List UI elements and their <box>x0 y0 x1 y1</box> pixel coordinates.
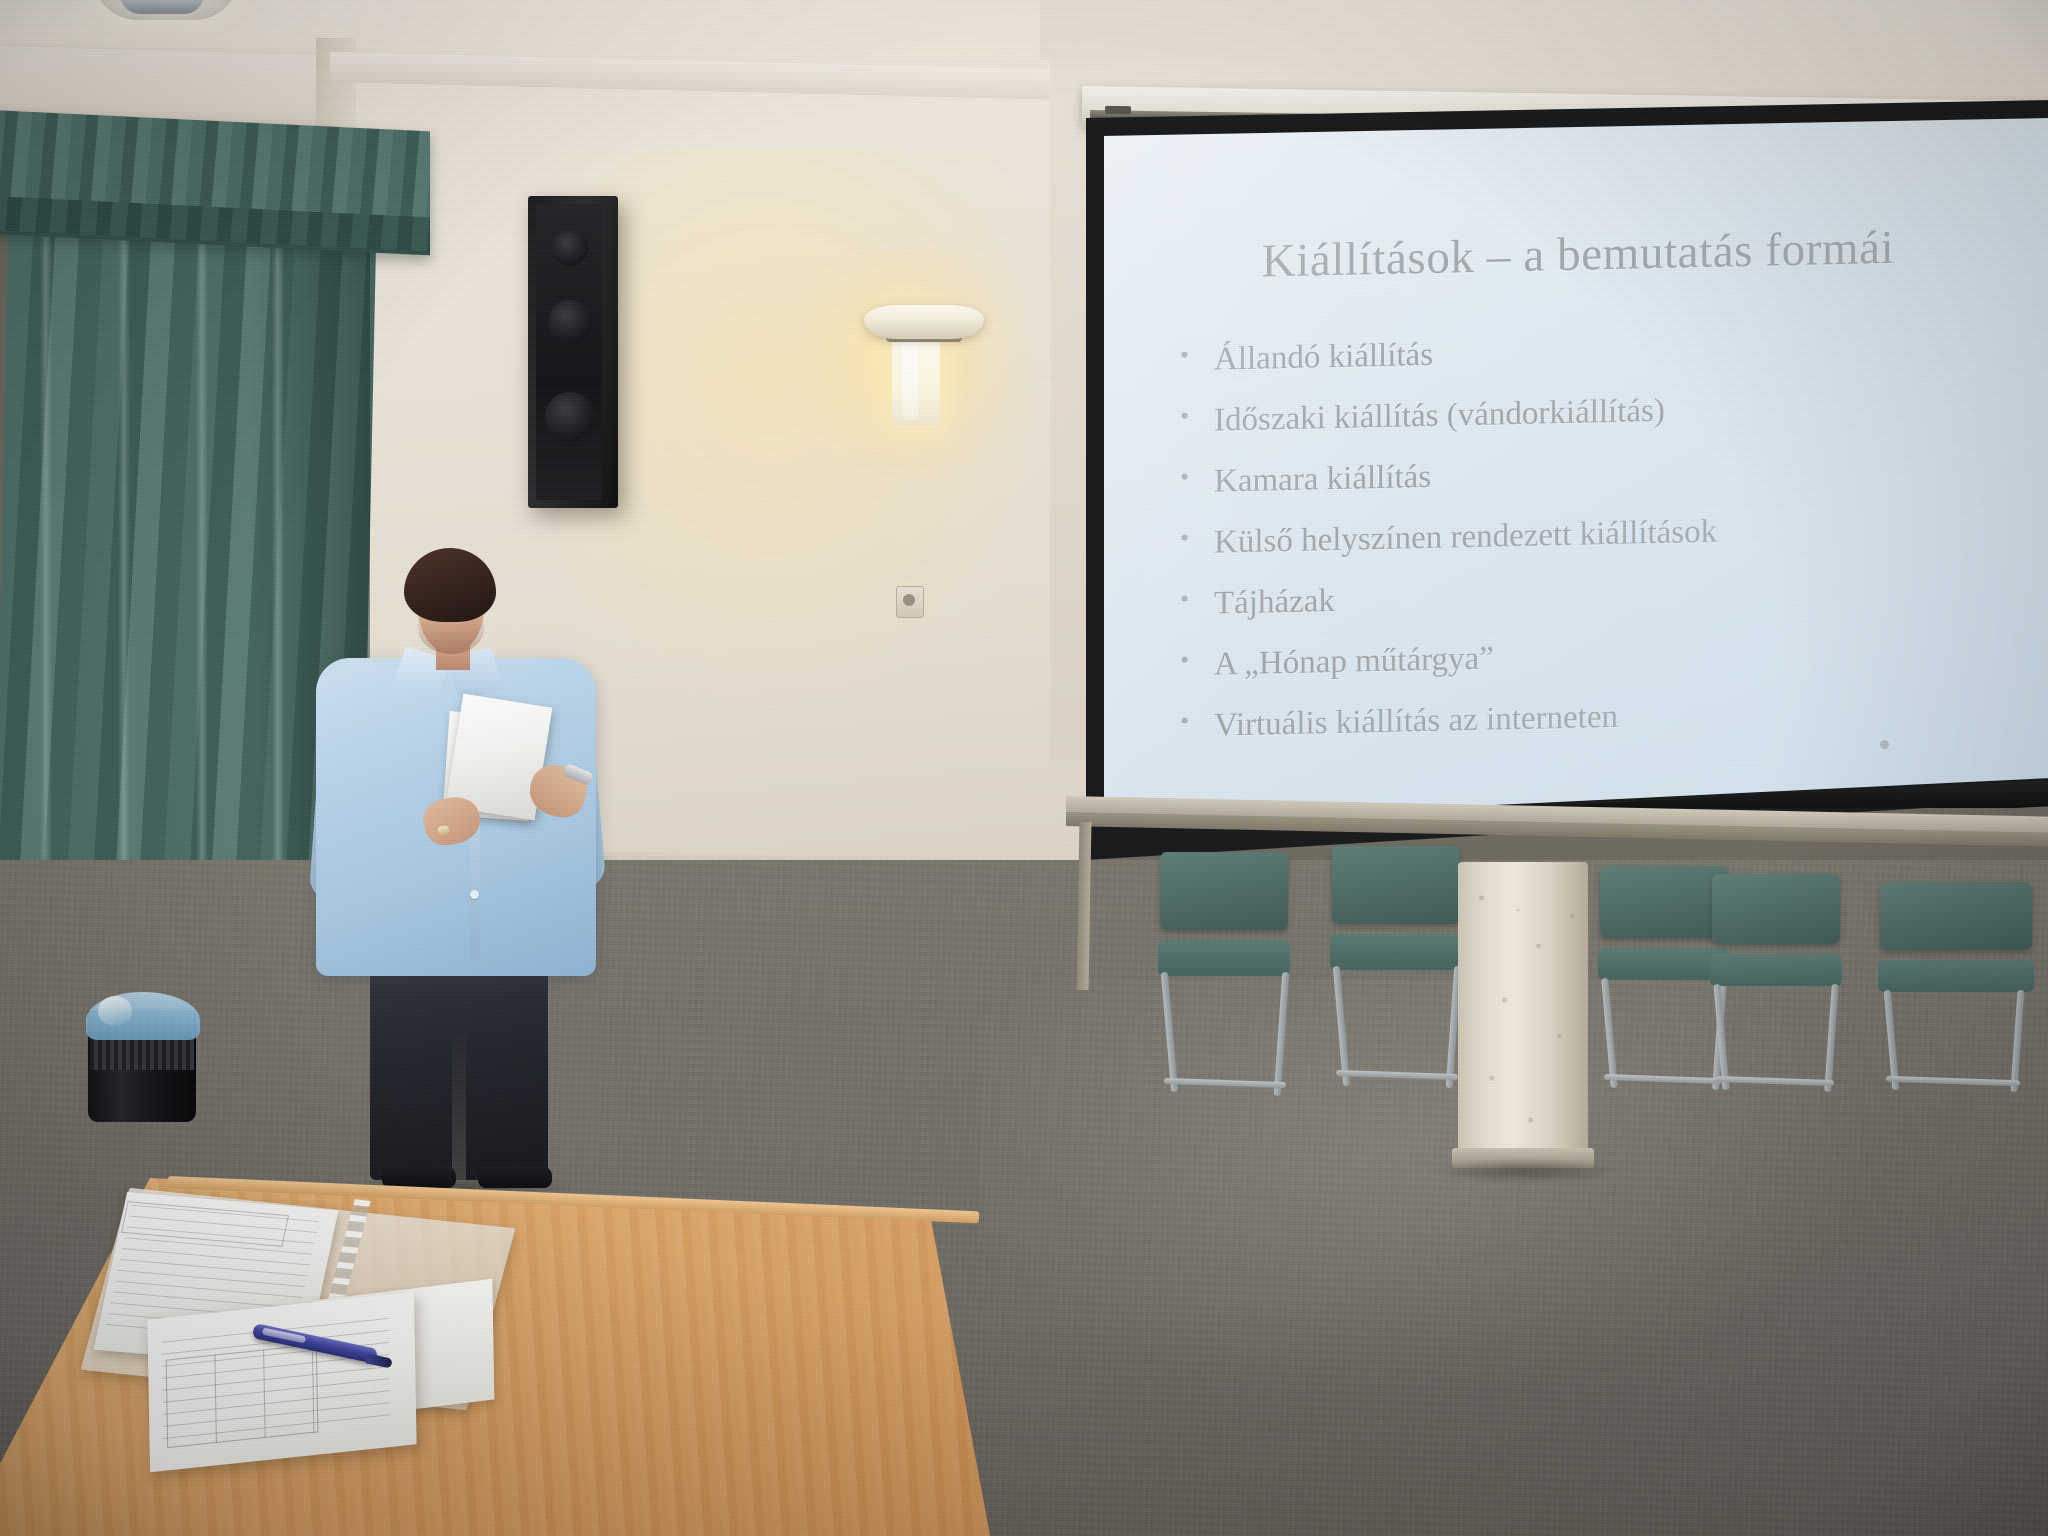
speaker-driver-icon <box>548 300 592 344</box>
slide-bullet: Időszaki kiállítás (vándorkiállítás) <box>1168 386 2048 438</box>
presenter-leg-gap <box>452 1026 466 1182</box>
concrete-column-texture <box>1458 862 1588 1162</box>
concrete-column-shadow <box>1430 1158 1620 1184</box>
slide-bullet: Külső helyszínen rendezett kiállítások <box>1168 508 2048 560</box>
slide-bullet: Kamara kiállítás <box>1168 447 2048 499</box>
wall-sconce-highlight <box>902 340 918 420</box>
speaker-driver-icon <box>545 392 595 442</box>
printed-form-b-grid <box>166 1344 319 1448</box>
speaker-driver-icon <box>552 230 588 266</box>
waste-basket-liner-highlight <box>98 996 132 1026</box>
ceiling-lamp-corner-core <box>120 0 204 14</box>
presenter-shirt-button <box>470 890 479 899</box>
slide-bullet-list: Állandó kiállítás Időszaki kiállítás (vá… <box>1168 325 2048 771</box>
presenter-shoe <box>382 1166 456 1188</box>
floor-light-pool <box>980 980 1880 1400</box>
slide-bullet: Tájházak <box>1168 569 2048 621</box>
slide-title: Kiállítások – a bemutatás formái <box>1148 218 2008 291</box>
wall-socket-hole <box>903 594 915 606</box>
slide: Kiállítások – a bemutatás formái Állandó… <box>1104 113 2048 840</box>
slide-bullet: Állandó kiállítás <box>1168 325 2048 377</box>
screen-housing-clip-icon <box>1105 106 1131 114</box>
conference-room-photo: Kiállítások – a bemutatás formái Állandó… <box>0 0 2048 1536</box>
presenter-shoe <box>478 1166 552 1188</box>
slide-bullet: Virtuális kiállítás az interneten <box>1168 691 2048 743</box>
slide-bullet: A „Hónap műtárgya” <box>1168 630 2048 682</box>
wall-sconce-icon <box>864 305 984 339</box>
